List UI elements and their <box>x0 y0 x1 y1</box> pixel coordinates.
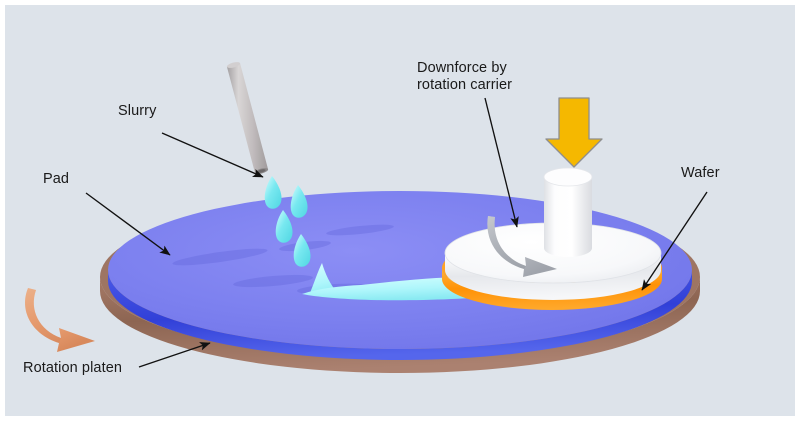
carrier-shaft <box>544 168 592 257</box>
label-slurry: Slurry <box>118 103 156 120</box>
diagram-graphics <box>5 5 795 416</box>
diagram-canvas: Slurry Pad Downforce byrotation carrier … <box>5 5 795 416</box>
platen-rotation-arrow <box>25 288 95 352</box>
label-downforce-by-rotation-carrier: Downforce byrotation carrier <box>417 60 512 94</box>
label-pad: Pad <box>43 171 69 188</box>
label-downforce-line2: rotation carrier <box>417 77 512 93</box>
label-rotation-platen: Rotation platen <box>23 360 122 377</box>
label-wafer: Wafer <box>681 165 720 182</box>
leader-rotation-platen <box>139 343 210 367</box>
downforce-arrow <box>546 98 602 167</box>
cmp-process-diagram: Slurry Pad Downforce byrotation carrier … <box>0 0 800 421</box>
label-downforce-line1: Downforce by <box>417 60 507 76</box>
slurry-nozzle <box>226 61 268 175</box>
